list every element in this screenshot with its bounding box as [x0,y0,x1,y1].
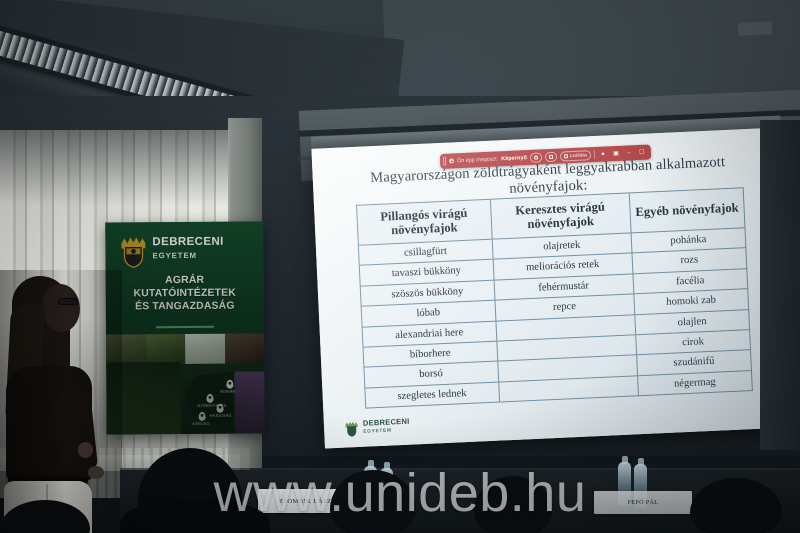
presentation-slide: Magyarországon zöldtrágyaként leggyakrab… [311,127,794,448]
right-wall [760,120,800,450]
share-status-label: Ön épp megoszt: [457,156,498,164]
pause-button[interactable] [545,151,557,162]
rollup-banner: DEBRECENI EGYETEM AGRÁR KUTATÓINTÉZETEK … [105,221,264,434]
table-body: csillagfürt olajretek pohánka tavaszi bü… [358,228,752,409]
toolbar-divider [594,150,595,159]
ceiling-vent [738,21,773,36]
slide-logo-sub: EGYETEM [363,426,410,437]
slide-crest-icon [344,420,360,438]
photo-scene: DEBRECENI EGYETEM AGRÁR KUTATÓINTÉZETEK … [0,0,800,533]
slide-university-logo: DEBRECENI EGYETEM [344,418,410,438]
slide-logo-text: DEBRECENI EGYETEM [363,418,410,437]
table-header-crucifers: Keresztes virágú növényfajok [490,193,631,239]
drag-handle-icon[interactable] [443,157,446,166]
audience-shoulders-foreground [120,500,270,533]
camera-icon[interactable]: ▣ [611,148,621,158]
plant-species-table: Pillangós virágú növényfajok Keresztes v… [356,187,753,409]
stop-sharing-label: Leállítás [570,152,587,158]
expand-icon[interactable]: ☐ [637,147,647,157]
cursor-icon [534,155,538,159]
table-header-legumes: Pillangós virágú növényfajok [357,199,492,245]
annotate-button[interactable] [530,152,542,163]
nameplate: PEPÓ PÁL [594,491,692,514]
stop-icon [564,154,568,158]
microphone-icon[interactable]: ● [598,149,608,159]
minimize-icon[interactable]: – [624,148,634,158]
banner-shading [105,221,264,434]
pause-icon [549,154,553,158]
projection-screen: Magyarországon zöldtrágyaként leggyakrab… [311,127,794,448]
presenter-shading [0,270,122,533]
cell-other: négermag [637,370,752,396]
stop-sharing-button[interactable]: Leállítás [560,150,592,161]
table-header-other: Egyéb növényfajok [629,188,745,233]
share-status-icon [449,158,454,163]
share-target-label: Képernyő [501,155,527,162]
presenter-person [0,270,122,533]
